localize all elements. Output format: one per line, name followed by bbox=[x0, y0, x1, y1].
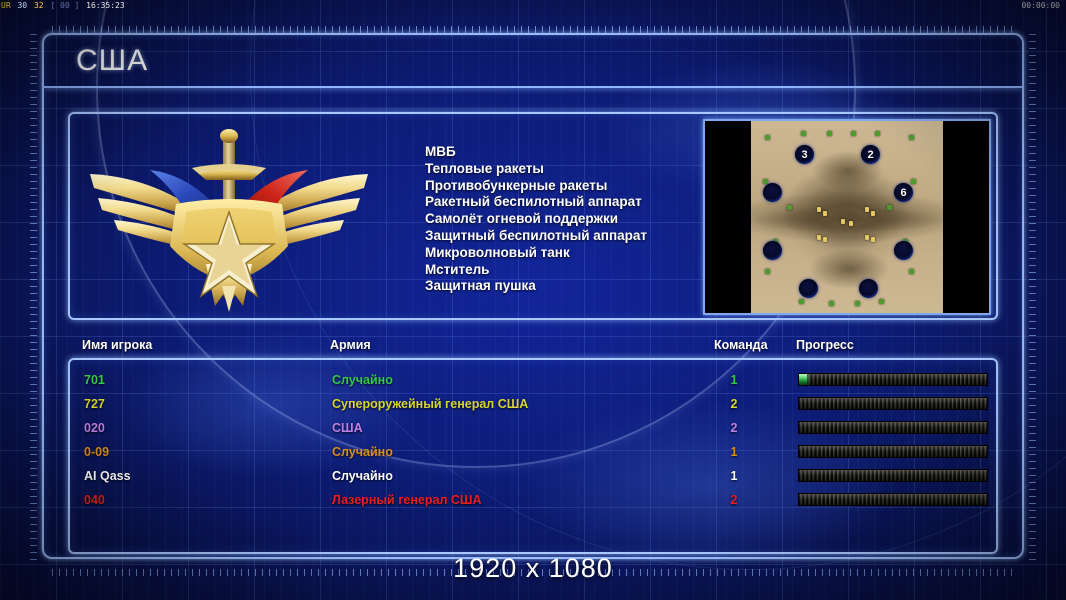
minimap-oil-derrick-icon bbox=[849, 221, 853, 226]
player-team: 1 bbox=[722, 368, 746, 392]
minimap-start-position[interactable]: 6 bbox=[894, 183, 913, 202]
player-progress-bar bbox=[798, 397, 988, 410]
minimap-start-position[interactable] bbox=[763, 241, 782, 260]
player-team: 2 bbox=[722, 392, 746, 416]
player-team: 2 bbox=[722, 416, 746, 440]
minimap-oil-derrick-icon bbox=[817, 235, 821, 240]
minimap-start-position[interactable] bbox=[859, 279, 878, 298]
header-army: Армия bbox=[330, 338, 371, 352]
minimap-start-position[interactable] bbox=[763, 183, 782, 202]
debug-label: UR bbox=[0, 0, 12, 12]
minimap-supply-dock-icon bbox=[887, 205, 892, 210]
minimap-supply-dock-icon bbox=[765, 269, 770, 274]
debug-bracket: [ 00 ] bbox=[49, 0, 80, 12]
player-row[interactable]: 0-09Случайно1 bbox=[70, 440, 1000, 464]
header-player-name: Имя игрока bbox=[82, 338, 152, 352]
minimap-supply-dock-icon bbox=[909, 269, 914, 274]
ruler-right bbox=[1029, 34, 1036, 562]
player-progress-bar bbox=[798, 469, 988, 482]
player-army: Случайно bbox=[332, 440, 393, 464]
player-army: Случайно bbox=[332, 464, 393, 488]
unit-item: Самолёт огневой поддержки bbox=[425, 211, 725, 228]
player-progress-bar bbox=[798, 445, 988, 458]
resolution-overlay: 1920 x 1080 bbox=[0, 553, 1066, 584]
minimap-oil-derrick-icon bbox=[865, 235, 869, 240]
player-army: США bbox=[332, 416, 363, 440]
minimap-preview[interactable]: 326 bbox=[703, 119, 991, 315]
minimap-start-position[interactable]: 3 bbox=[795, 145, 814, 164]
player-row[interactable]: 701Случайно1 bbox=[70, 368, 1000, 392]
unit-item: Противобункерные ракеты bbox=[425, 178, 725, 195]
minimap-supply-dock-icon bbox=[855, 301, 860, 306]
debug-value-1: 30 bbox=[16, 0, 28, 12]
player-team: 1 bbox=[722, 464, 746, 488]
unit-item: Мститель bbox=[425, 262, 725, 279]
player-name: 0-09 bbox=[84, 440, 109, 464]
minimap-oil-derrick-icon bbox=[871, 211, 875, 216]
minimap-supply-dock-icon bbox=[909, 135, 914, 140]
minimap-oil-derrick-icon bbox=[817, 207, 821, 212]
faction-info-panel: МВБ Тепловые ракеты Противобункерные рак… bbox=[68, 112, 998, 320]
minimap-oil-derrick-icon bbox=[865, 207, 869, 212]
player-name: 701 bbox=[84, 368, 105, 392]
minimap-supply-dock-icon bbox=[799, 299, 804, 304]
header-team: Команда bbox=[714, 338, 768, 352]
player-row[interactable]: 727Супероружейный генерал США2 bbox=[70, 392, 1000, 416]
player-name: AI Qass bbox=[84, 464, 131, 488]
debug-clock: 16:35:23 bbox=[85, 0, 126, 12]
unit-item: Защитный беспилотный аппарат bbox=[425, 228, 725, 245]
game-lobby-screen: UR 30 32 [ 00 ] 16:35:23 00:00:00 США bbox=[0, 0, 1066, 600]
player-table-header: Имя игрока Армия Команда Прогресс bbox=[68, 338, 998, 358]
debug-value-2: 32 bbox=[33, 0, 45, 12]
faction-unit-list: МВБ Тепловые ракеты Противобункерные рак… bbox=[425, 144, 725, 295]
title-band: США bbox=[44, 36, 1022, 88]
player-progress-bar bbox=[798, 421, 988, 434]
minimap-supply-dock-icon bbox=[879, 299, 884, 304]
minimap-supply-dock-icon bbox=[827, 131, 832, 136]
minimap-supply-dock-icon bbox=[765, 135, 770, 140]
player-name: 727 bbox=[84, 392, 105, 416]
unit-item: Защитная пушка bbox=[425, 278, 725, 295]
player-row[interactable]: 040Лазерный генерал США2 bbox=[70, 488, 1000, 512]
player-army: Случайно bbox=[332, 368, 393, 392]
minimap-oil-derrick-icon bbox=[823, 211, 827, 216]
minimap-supply-dock-icon bbox=[787, 205, 792, 210]
unit-item: Ракетный беспилотный аппарат bbox=[425, 194, 725, 211]
player-row[interactable]: AI QassСлучайно1 bbox=[70, 464, 1000, 488]
minimap-start-position[interactable] bbox=[799, 279, 818, 298]
player-row[interactable]: 020США2 bbox=[70, 416, 1000, 440]
ruler-top bbox=[52, 26, 1014, 33]
unit-item: МВБ bbox=[425, 144, 725, 161]
minimap-supply-dock-icon bbox=[829, 301, 834, 306]
player-team: 2 bbox=[722, 488, 746, 512]
header-progress: Прогресс bbox=[796, 338, 854, 352]
unit-item: Тепловые ракеты bbox=[425, 161, 725, 178]
minimap-oil-derrick-icon bbox=[871, 237, 875, 242]
minimap-start-position[interactable]: 2 bbox=[861, 145, 880, 164]
player-progress-bar bbox=[798, 373, 988, 386]
faction-emblem bbox=[80, 116, 380, 316]
ruler-left bbox=[30, 34, 37, 562]
page-title: США bbox=[76, 44, 148, 78]
minimap-supply-dock-icon bbox=[875, 131, 880, 136]
usa-emblem-icon bbox=[80, 116, 380, 316]
minimap-supply-dock-icon bbox=[851, 131, 856, 136]
minimap-oil-derrick-icon bbox=[823, 237, 827, 242]
minimap-supply-dock-icon bbox=[911, 179, 916, 184]
player-progress-bar bbox=[798, 493, 988, 506]
minimap-terrain: 326 bbox=[751, 121, 943, 313]
debug-overlay-bar: UR 30 32 [ 00 ] 16:35:23 bbox=[0, 0, 1066, 12]
minimap-start-position[interactable] bbox=[894, 241, 913, 260]
player-army: Супероружейный генерал США bbox=[332, 392, 528, 416]
player-name: 020 bbox=[84, 416, 105, 440]
player-army: Лазерный генерал США bbox=[332, 488, 481, 512]
player-team: 1 bbox=[722, 440, 746, 464]
player-name: 040 bbox=[84, 488, 105, 512]
player-list-panel: 701Случайно1727Супероружейный генерал СШ… bbox=[68, 358, 998, 554]
minimap-supply-dock-icon bbox=[801, 131, 806, 136]
unit-item: Микроволновый танк bbox=[425, 245, 725, 262]
minimap-oil-derrick-icon bbox=[841, 219, 845, 224]
